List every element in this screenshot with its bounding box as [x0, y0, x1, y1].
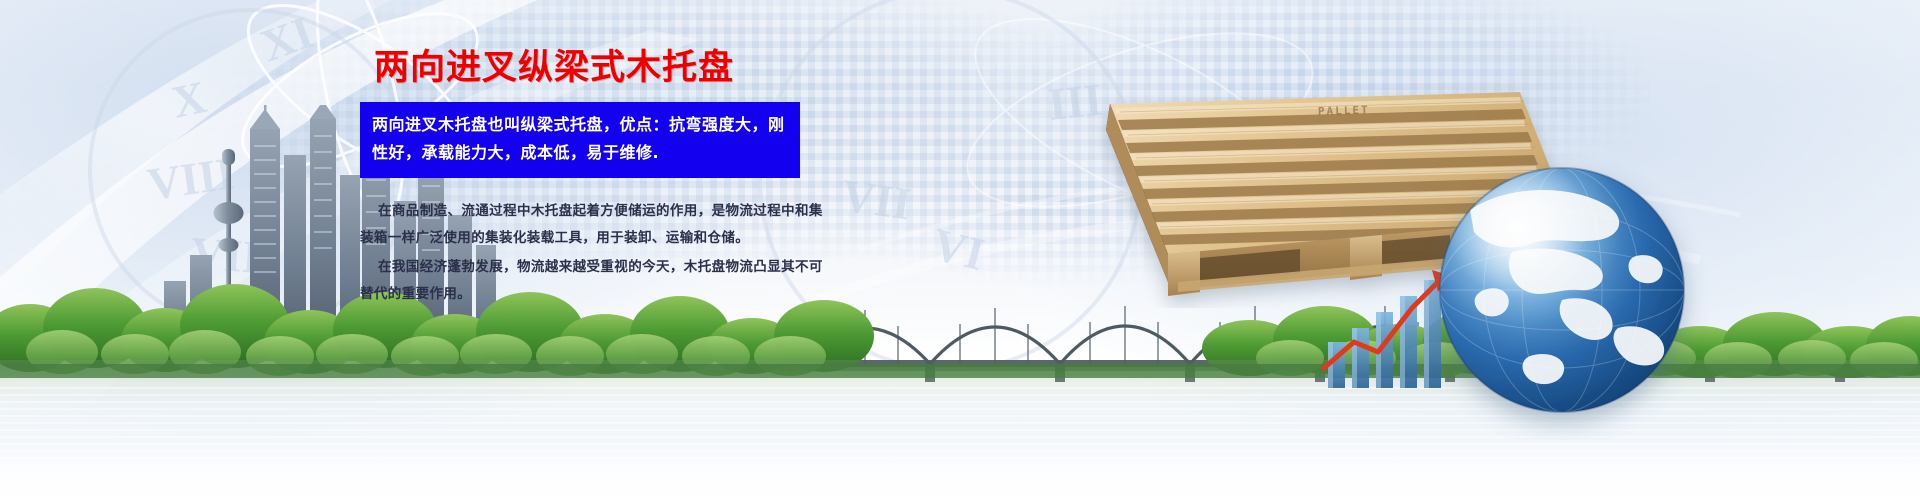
svg-text:VII: VII [189, 227, 261, 283]
svg-text:III: III [1046, 74, 1105, 130]
wooden-stringer-pallet: PALLET [1050, 68, 1590, 308]
description-paragraph-1: 在商品制造、流通过程中木托盘起着方便储运的作用，是物流过程中和集装箱一样广泛使用… [360, 198, 830, 252]
background-glow-right [1020, 0, 1920, 500]
arch-bridge [780, 252, 1920, 382]
roman-numerals-watermark: X VIII VII XI VII VI III [0, 0, 1920, 500]
swoosh-arcs-decoration [0, 0, 1920, 500]
page-title: 两向进叉纵梁式木托盘 [374, 48, 860, 88]
highlight-callout: 两向进叉木托盘也叫纵梁式托盘，优点：抗弯强度大，刚性好，承载能力大，成本低，易于… [360, 102, 800, 178]
earth-globe [1412, 140, 1712, 440]
pallet-stencil-text: PALLET [1318, 104, 1370, 118]
svg-text:XI: XI [254, 6, 319, 71]
water-reflection [0, 360, 1920, 500]
tree-line [0, 268, 1920, 378]
growth-bar-chart-with-arrow [1320, 260, 1490, 390]
description-text: 在商品制造、流通过程中木托盘起着方便储运的作用，是物流过程中和集装箱一样广泛使用… [360, 198, 830, 308]
banner-text-block: 两向进叉纵梁式木托盘 两向进叉木托盘也叫纵梁式托盘，优点：抗弯强度大，刚性好，承… [360, 48, 860, 310]
svg-text:X: X [167, 71, 210, 128]
description-paragraph-2: 在我国经济蓬勃发展，物流越来越受重视的今天，木托盘物流凸显其不可替代的重要作用。 [360, 254, 830, 308]
svg-text:VIII: VIII [144, 147, 237, 210]
svg-text:VI: VI [928, 218, 990, 280]
water-ripple-lines [0, 382, 1920, 492]
product-banner: X VIII VII XI VII VI III [0, 0, 1920, 500]
